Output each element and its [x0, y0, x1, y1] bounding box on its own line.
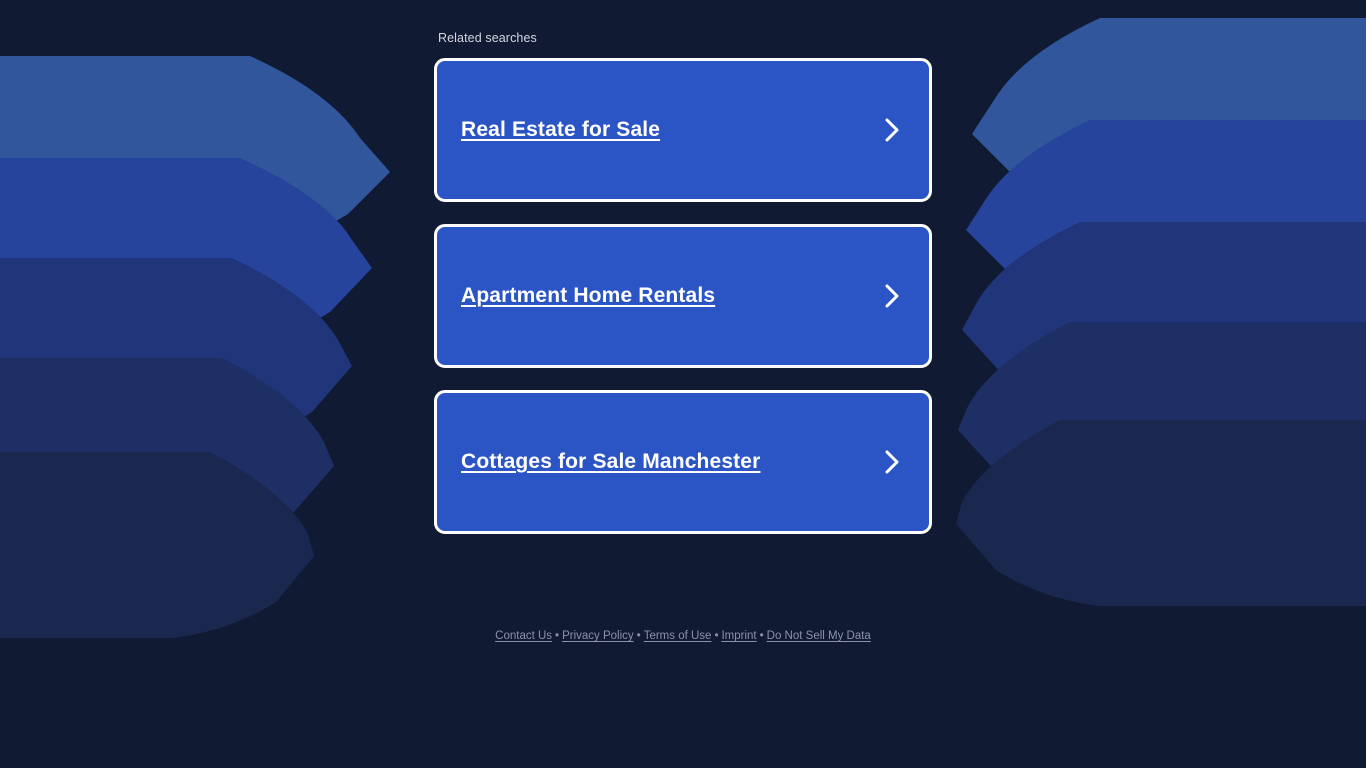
- related-search-label-2: Apartment Home Rentals: [461, 284, 715, 308]
- related-search-card-2[interactable]: Apartment Home Rentals: [434, 224, 932, 368]
- footer-link-imprint[interactable]: Imprint: [721, 630, 756, 642]
- related-searches-list: Real Estate for Sale Apartment Home Rent…: [434, 58, 932, 534]
- footer-separator: •: [552, 628, 562, 645]
- footer-link-do-not-sell-my-data[interactable]: Do Not Sell My Data: [767, 630, 871, 642]
- related-search-label-1: Real Estate for Sale: [461, 118, 660, 142]
- page-root: Related searches Real Estate for Sale Ap…: [0, 0, 1366, 768]
- related-searches-section: Related searches Real Estate for Sale Ap…: [434, 30, 932, 534]
- related-search-card-3[interactable]: Cottages for Sale Manchester: [434, 390, 932, 534]
- chevron-right-icon: [881, 116, 903, 144]
- footer-link-terms-of-use[interactable]: Terms of Use: [644, 630, 712, 642]
- related-searches-label: Related searches: [434, 30, 932, 46]
- footer-link-privacy-policy[interactable]: Privacy Policy: [562, 630, 634, 642]
- related-search-label-3: Cottages for Sale Manchester: [461, 450, 760, 474]
- footer-separator: •: [634, 628, 644, 645]
- footer-separator: •: [711, 628, 721, 645]
- footer-links: Contact Us•Privacy Policy•Terms of Use•I…: [0, 628, 1366, 645]
- footer-separator: •: [757, 628, 767, 645]
- footer-link-contact-us[interactable]: Contact Us: [495, 630, 552, 642]
- related-search-card-1[interactable]: Real Estate for Sale: [434, 58, 932, 202]
- chevron-right-icon: [881, 448, 903, 476]
- chevron-right-icon: [881, 282, 903, 310]
